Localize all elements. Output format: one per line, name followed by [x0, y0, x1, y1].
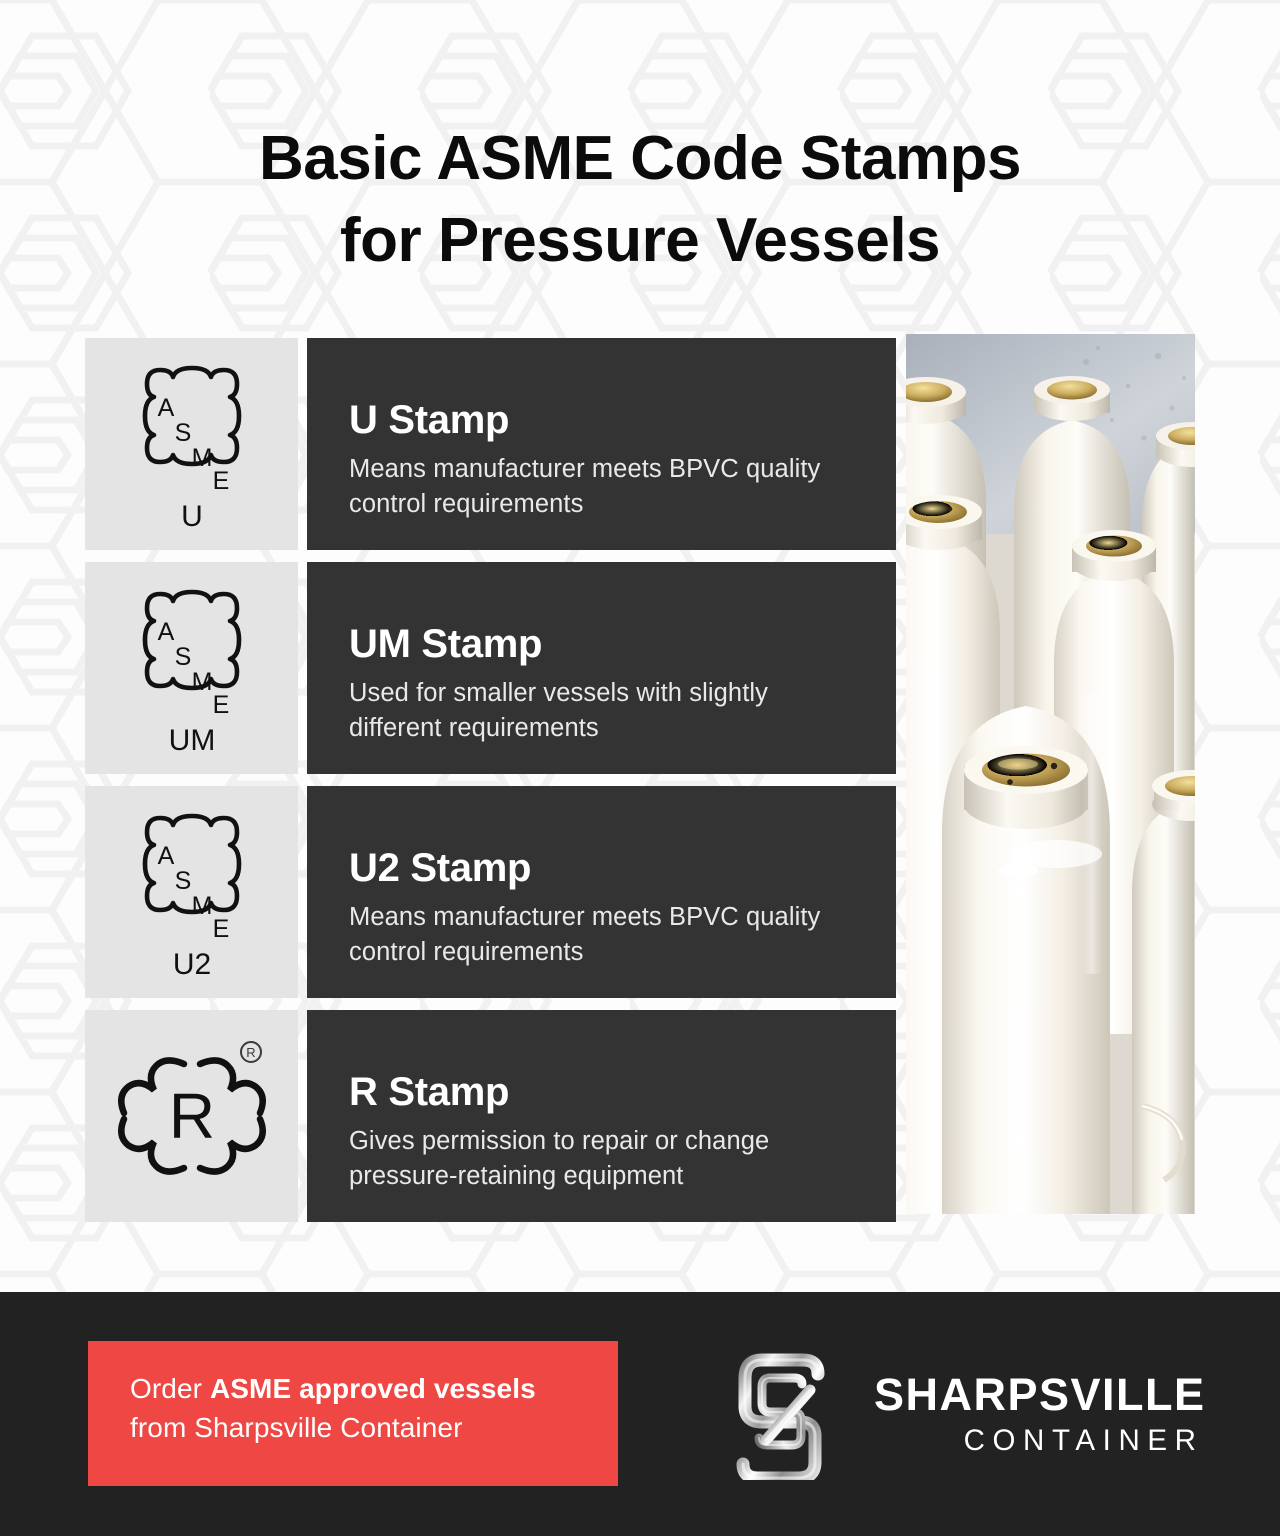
svg-text:E: E	[212, 691, 229, 719]
page-title-line-2: for Pressure Vessels	[0, 200, 1280, 282]
stamp-text-panel: UM Stamp Used for smaller vessels with s…	[307, 562, 896, 774]
svg-text:M: M	[191, 444, 212, 472]
stamp-code-label: U2	[172, 948, 210, 978]
stamp-code-label: R	[168, 1080, 214, 1152]
page-title-line-1: Basic ASME Code Stamps	[0, 118, 1280, 200]
stamp-icon-panel: A S M E U	[85, 338, 298, 550]
stamp-description: Used for smaller vessels with slightly d…	[349, 676, 862, 745]
svg-text:A: A	[157, 618, 174, 646]
sharpsville-logo[interactable]: SHARPSVILLE CONTAINER	[726, 1344, 1206, 1480]
stamp-description: Means manufacturer meets BPVC quality co…	[349, 452, 862, 521]
stamp-title: R Stamp	[349, 1071, 862, 1114]
stamp-row: A S M E U U Stamp Means manufacturer mee…	[85, 338, 896, 550]
svg-text:S: S	[174, 867, 191, 895]
svg-text:R: R	[246, 1045, 255, 1060]
stamp-title: U Stamp	[349, 399, 862, 442]
cta-line-2: from Sharpsville Container	[130, 1408, 618, 1447]
stamp-text-panel: U Stamp Means manufacturer meets BPVC qu…	[307, 338, 896, 550]
stamp-code-label: UM	[168, 724, 215, 754]
stamp-icon-panel: A S M E U2	[85, 786, 298, 998]
svg-text:E: E	[212, 915, 229, 943]
cta-line-1: Order ASME approved vessels	[130, 1369, 618, 1408]
stamp-text-panel: R Stamp Gives permission to repair or ch…	[307, 1010, 896, 1222]
stamp-row: R R R Stamp Gives permission to repair o…	[85, 1010, 896, 1222]
svg-text:E: E	[212, 467, 229, 495]
stamp-title: U2 Stamp	[349, 847, 862, 890]
svg-text:A: A	[157, 394, 174, 422]
sharpsville-wordmark: SHARPSVILLE CONTAINER	[874, 1368, 1206, 1456]
stamp-description: Gives permission to repair or change pre…	[349, 1124, 862, 1193]
stamp-list: A S M E U U Stamp Means manufacturer mee…	[85, 338, 896, 1222]
cta-banner[interactable]: Order ASME approved vessels from Sharpsv…	[88, 1341, 618, 1486]
svg-text:M: M	[191, 668, 212, 696]
logo-word-sub: CONTAINER	[874, 1426, 1206, 1456]
svg-text:A: A	[157, 842, 174, 870]
stamp-code-label: U	[181, 500, 203, 530]
cta-bold: ASME approved vessels	[210, 1373, 536, 1404]
stamp-title: UM Stamp	[349, 623, 862, 666]
asme-um-stamp-icon: A S M E UM	[117, 582, 267, 754]
stamp-icon-panel: A S M E UM	[85, 562, 298, 774]
registered-trademark-icon: R	[241, 1042, 261, 1062]
asme-u2-stamp-icon: A S M E U2	[117, 806, 267, 978]
stamp-text-panel: U2 Stamp Means manufacturer meets BPVC q…	[307, 786, 896, 998]
stamp-row: A S M E U2 U2 Stamp Means manufacturer m…	[85, 786, 896, 998]
asme-u-stamp-icon: A S M E U	[117, 358, 267, 530]
svg-text:M: M	[191, 892, 212, 920]
stamp-description: Means manufacturer meets BPVC quality co…	[349, 900, 862, 969]
asme-r-stamp-icon: R R	[112, 1034, 272, 1198]
svg-text:S: S	[174, 419, 191, 447]
logo-word-main: SHARPSVILLE	[874, 1372, 1206, 1417]
cta-prefix: Order	[130, 1373, 210, 1404]
stamp-icon-panel: R R	[85, 1010, 298, 1222]
svg-text:S: S	[174, 643, 191, 671]
pressure-vessel-photo	[906, 334, 1195, 1214]
footer-bar: Order ASME approved vessels from Sharpsv…	[0, 1292, 1280, 1536]
stamp-row: A S M E UM UM Stamp Used for smaller ves…	[85, 562, 896, 774]
page-title: Basic ASME Code Stamps for Pressure Vess…	[0, 118, 1280, 282]
sharpsville-s-mark-icon	[726, 1344, 848, 1480]
